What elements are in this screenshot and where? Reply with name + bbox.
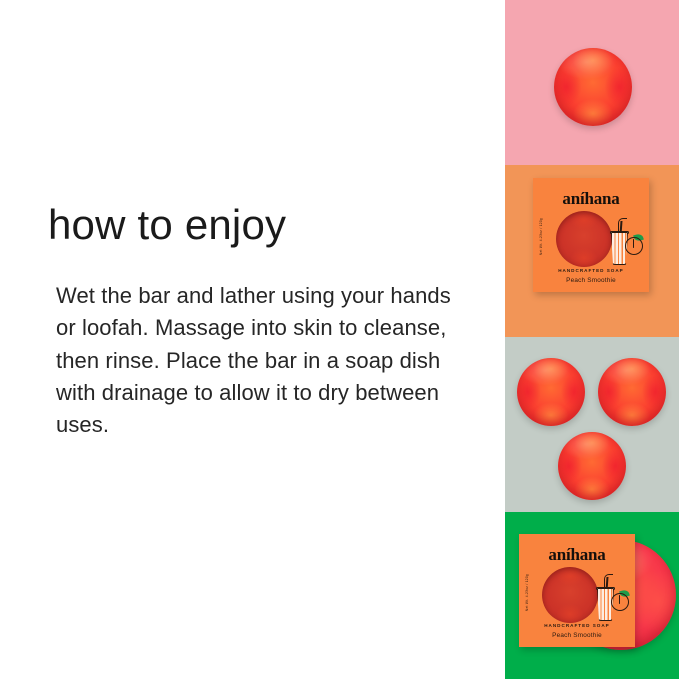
panel-orange: aníhana Net Wt. 4.23oz / 120g HANDCRAFTE… <box>505 165 679 337</box>
photo-strip: aníhana Net Wt. 4.23oz / 120g HANDCRAFTE… <box>505 0 679 679</box>
box-window-soap <box>542 567 598 623</box>
net-weight-label: Net Wt. 4.23oz / 120g <box>539 218 543 255</box>
box-window-soap <box>556 211 612 267</box>
peach-icon <box>611 590 630 611</box>
text-column: how to enjoy Wet the bar and lather usin… <box>0 0 505 679</box>
peach-crease <box>619 595 620 604</box>
product-variant: Peach Smoothie <box>533 277 649 284</box>
panel-gray <box>505 337 679 512</box>
product-descriptor: HANDCRAFTED SOAP <box>533 268 649 273</box>
page-title: how to enjoy <box>48 202 286 248</box>
brand-logo: aníhana <box>533 189 649 209</box>
net-weight-label: Net Wt. 4.23oz / 120g <box>525 574 529 611</box>
panel-green: aníhana Net Wt. 4.23oz / 120g HANDCRAFTE… <box>505 512 679 679</box>
body-copy: Wet the bar and lather using your hands … <box>56 280 466 442</box>
panel-pink <box>505 0 679 165</box>
soap-bar <box>558 432 626 500</box>
peach-crease <box>633 239 634 248</box>
product-box: aníhana Net Wt. 4.23oz / 120g HANDCRAFTE… <box>519 534 635 647</box>
soap-bar <box>554 48 632 126</box>
product-variant: Peach Smoothie <box>519 632 635 639</box>
product-descriptor: HANDCRAFTED SOAP <box>519 623 635 628</box>
product-detail-image: how to enjoy Wet the bar and lather usin… <box>0 0 679 679</box>
brand-logo: aníhana <box>519 545 635 565</box>
peach-icon <box>625 234 644 255</box>
soap-bar <box>517 358 585 426</box>
product-box: aníhana Net Wt. 4.23oz / 120g HANDCRAFTE… <box>533 178 649 292</box>
soap-bar <box>598 358 666 426</box>
